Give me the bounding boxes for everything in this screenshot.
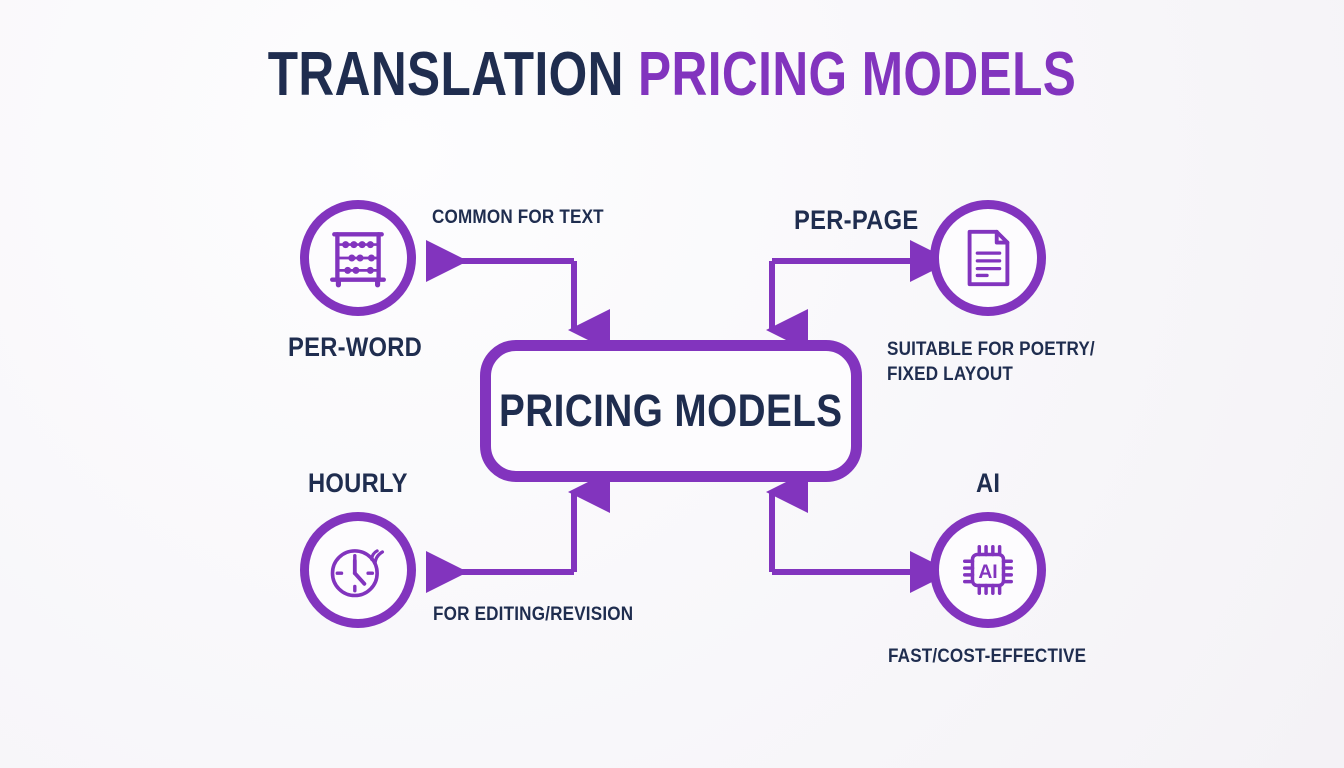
- node-label-per-word: PER-WORD: [288, 332, 422, 363]
- ai-chip-icon: AI: [957, 539, 1019, 601]
- document-icon: [957, 227, 1019, 289]
- connector-ai: [772, 492, 916, 572]
- center-node-pricing-models: PRICING MODELS: [480, 340, 862, 482]
- node-label-hourly: HOURLY: [308, 468, 408, 499]
- page-title: TRANSLATION PRICING MODELS: [134, 44, 1209, 106]
- node-caption-per-word: COMMON FOR TEXT: [432, 205, 604, 230]
- node-label-per-page: PER-PAGE: [794, 205, 918, 236]
- node-caption-hourly: FOR EDITING/REVISION: [433, 602, 633, 627]
- connector-hourly: [432, 492, 574, 572]
- node-label-ai: AI: [976, 468, 1000, 499]
- title-part-translation: TRANSLATION: [268, 40, 624, 109]
- infographic-canvas: TRANSLATION PRICING MODELS: [0, 0, 1344, 768]
- node-ai: AI: [930, 512, 1046, 628]
- abacus-icon: [325, 225, 391, 291]
- node-caption-per-page-line1: SUITABLE FOR POETRY/: [887, 337, 1095, 362]
- connector-per-page: [772, 261, 916, 330]
- connector-per-word: [432, 261, 574, 330]
- node-per-word: [300, 200, 416, 316]
- svg-text:AI: AI: [978, 561, 997, 583]
- node-caption-per-page-line2: FIXED LAYOUT: [887, 362, 1095, 387]
- node-caption-per-page: SUITABLE FOR POETRY/ FIXED LAYOUT: [887, 337, 1095, 387]
- center-node-label: PRICING MODELS: [499, 385, 843, 437]
- node-hourly: [300, 512, 416, 628]
- alarm-clock-icon: [324, 536, 392, 604]
- node-caption-ai: FAST/COST-EFFECTIVE: [888, 644, 1086, 669]
- title-part-pricing-models: PRICING MODELS: [638, 40, 1076, 109]
- node-per-page: [930, 200, 1046, 316]
